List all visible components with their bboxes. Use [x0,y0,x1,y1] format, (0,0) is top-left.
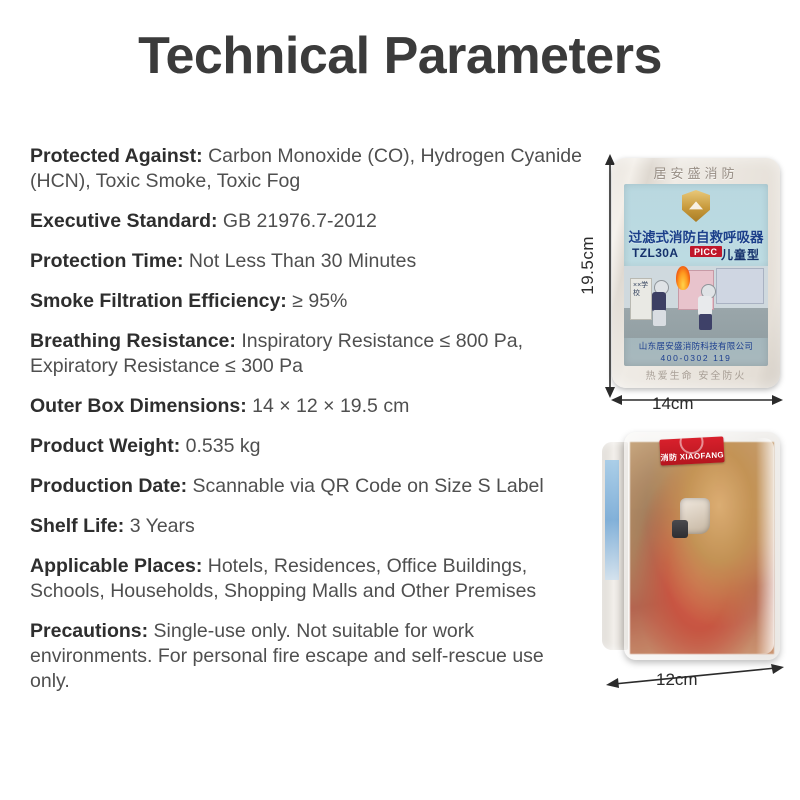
spec-label: Product Weight: [30,435,180,457]
person-legs [699,314,712,330]
spec-row-production-date: Production Date: Scannable via QR Code o… [30,474,586,499]
label-model-number: TZL30A [632,246,678,260]
width-bottom-dimension-arrow-icon [604,662,794,696]
specifications-list: Protected Against: Carbon Monoxide (CO),… [30,144,586,709]
product-label: 过滤式消防自救呼吸器 TZL30A PICC 儿童型 ××学校 [624,184,768,366]
illustration-building-right [716,268,764,304]
box-footer-embossed-text: 热爱生命 安全防火 [612,367,780,382]
spec-label: Protection Time: [30,250,184,272]
spec-label: Executive Standard: [30,210,217,232]
spec-row-protection-time: Protection Time: Not Less Than 30 Minute… [30,249,586,274]
label-product-type: 儿童型 [721,246,760,263]
product-box-front-view: 居安盛消防 过滤式消防自救呼吸器 TZL30A PICC 儿童型 ××学校 [612,158,780,388]
spec-value: ≥ 95% [292,290,347,312]
seal-sticker-text: 消防 XIAOFANG [660,449,724,463]
box-gloss-highlight [756,438,774,654]
spec-value: Not Less Than 30 Minutes [189,250,416,272]
flame-icon [676,266,690,290]
box-lid-embossed-text: 居安盛消防 [612,163,780,182]
spec-label: Outer Box Dimensions: [30,395,247,417]
spec-row-shelf-life: Shelf Life: 3 Years [30,514,586,539]
spec-label: Applicable Places: [30,555,202,577]
shield-logo-icon [682,190,710,222]
spec-value: 14 × 12 × 19.5 cm [252,395,409,417]
picc-brand-badge: PICC [690,246,722,257]
spec-value: GB 21976.7-2012 [223,210,377,232]
spec-row-product-weight: Product Weight: 0.535 kg [30,434,586,459]
spec-row-outer-box-dimensions: Outer Box Dimensions: 14 × 12 × 19.5 cm [30,394,586,419]
label-company-name: 山东居安盛消防科技有限公司 [624,340,768,352]
gate-sign-text: ××学校 [633,282,651,298]
spec-row-breathing-resistance: Breathing Resistance: Inspiratory Resist… [30,329,586,379]
page-title: Technical Parameters [0,26,800,86]
spec-row-executive-standard: Executive Standard: GB 21976.7-2012 [30,209,586,234]
spec-value: 0.535 kg [186,435,261,457]
person-legs [653,310,666,326]
label-headline: 过滤式消防自救呼吸器 [624,226,768,246]
spec-value: 3 Years [130,515,195,537]
dimension-height-label: 19.5cm [578,236,598,295]
product-box-angled-view: 消防 XIAOFANG [602,432,782,660]
width-top-dimension-arrow-icon [610,392,790,412]
spec-label: Protected Against: [30,145,203,167]
dimension-width-top-label: 14cm [652,394,694,414]
spec-label: Precautions: [30,620,148,642]
person-body [652,292,666,312]
illustration-school-gate: ××学校 [630,278,652,320]
seal-sticker: 消防 XIAOFANG [659,436,724,465]
spec-row-protected-against: Protected Against: Carbon Monoxide (CO),… [30,144,586,194]
label-phone-number: 400-0302 119 [624,353,768,363]
spec-label: Production Date: [30,475,187,497]
spec-label: Breathing Resistance: [30,330,236,352]
respirator-hood-contents [630,442,774,654]
spec-row-applicable-places: Applicable Places: Hotels, Residences, O… [30,554,586,604]
hood-filter-canister [672,520,688,538]
product-figures: 19.5cm 居安盛消防 过滤式消防自救呼吸器 TZL30A PICC 儿童型 … [560,140,800,720]
spec-row-smoke-filtration-efficiency: Smoke Filtration Efficiency: ≥ 95% [30,289,586,314]
spec-label: Smoke Filtration Efficiency: [30,290,287,312]
person-body [698,296,712,316]
spec-value: Scannable via QR Code on Size S Label [193,475,544,497]
label-illustration: ××学校 [624,266,768,338]
dimension-width-bottom-label: 12cm [656,670,698,690]
box-side-label [605,460,619,580]
spec-label: Shelf Life: [30,515,124,537]
spec-row-precautions: Precautions: Single-use only. Not suitab… [30,619,586,694]
box-front-panel-transparent: 消防 XIAOFANG [624,432,780,660]
